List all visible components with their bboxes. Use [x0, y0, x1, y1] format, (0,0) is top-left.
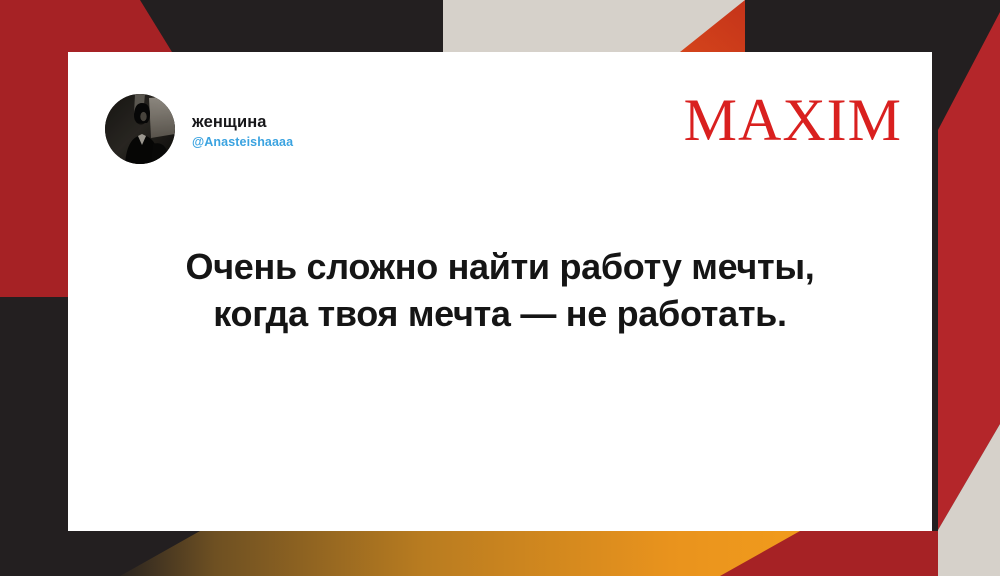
quote-card: женщина @Anasteishaaaa MAXIM Очень сложн… [68, 52, 932, 531]
author-display-name: женщина [192, 114, 293, 131]
quote-text: Очень сложно найти работу мечты, когда т… [68, 244, 932, 338]
maxim-brand-logo: MAXIM [684, 94, 902, 145]
card-header: женщина @Anasteishaaaa MAXIM [105, 94, 902, 174]
bg-shape-beige-bottom-corner [938, 531, 1000, 576]
screenshot-stage: женщина @Anasteishaaaa MAXIM Очень сложн… [0, 0, 1000, 576]
author-text: женщина @Anasteishaaaa [192, 110, 293, 148]
author-block[interactable]: женщина @Anasteishaaaa [105, 94, 293, 164]
user-photo-avatar[interactable] [105, 94, 175, 164]
quote-line-2: когда твоя мечта — не работать. [108, 291, 892, 338]
avatar-image [105, 94, 175, 164]
quote-line-1: Очень сложно найти работу мечты, [108, 244, 892, 291]
author-handle[interactable]: @Anasteishaaaa [192, 136, 293, 149]
